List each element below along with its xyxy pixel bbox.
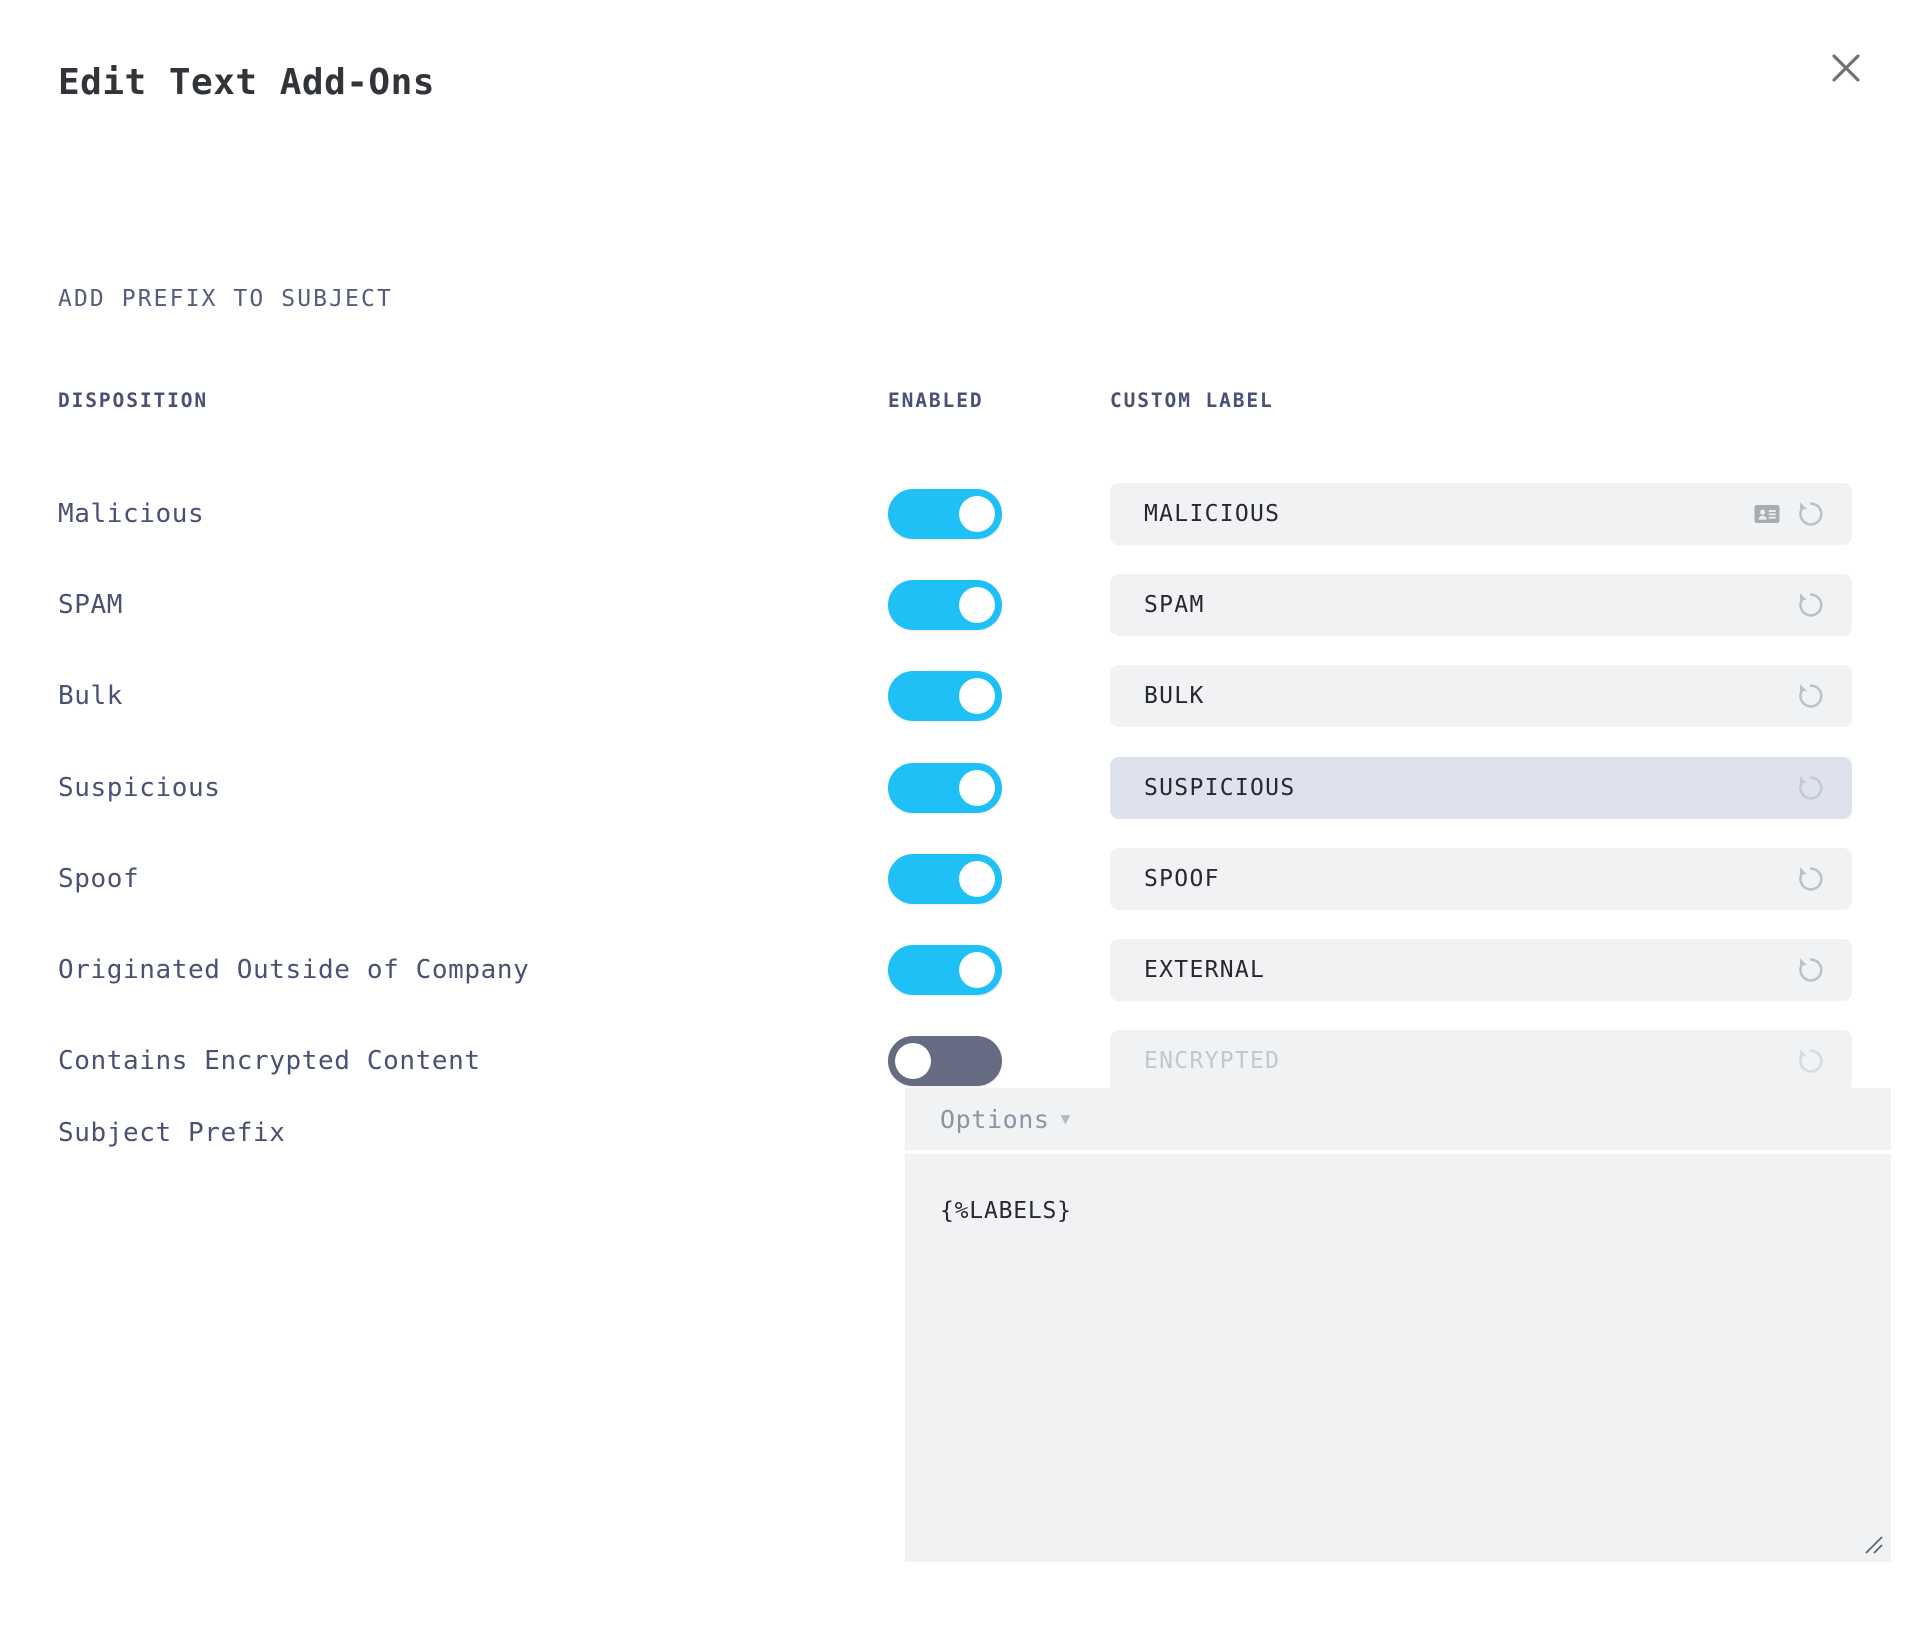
toggle-knob [959, 678, 995, 714]
field-icon-group [1752, 499, 1852, 529]
custom-label-value: SPOOF [1110, 866, 1796, 892]
custom-label-value: ENCRYPTED [1110, 1048, 1796, 1074]
custom-label-value: MALICIOUS [1110, 501, 1752, 527]
disposition-label: Spoof [58, 864, 139, 894]
custom-label-value: SUSPICIOUS [1110, 775, 1796, 801]
toggle-knob [959, 952, 995, 988]
enabled-toggle[interactable] [888, 489, 1002, 539]
toggle-knob [895, 1043, 931, 1079]
toggle-knob [959, 496, 995, 532]
close-button[interactable] [1820, 42, 1872, 94]
field-icon-group [1796, 955, 1852, 985]
table-row: SPAMSPAM [0, 574, 1908, 636]
disposition-label: SPAM [58, 590, 123, 620]
subject-prefix-value: {%LABELS} [940, 1198, 1072, 1224]
table-row: BulkBULK [0, 665, 1908, 727]
custom-label-input[interactable]: SPOOF [1110, 848, 1852, 910]
custom-label-input[interactable]: MALICIOUS [1110, 483, 1852, 545]
reset-icon[interactable] [1796, 864, 1826, 894]
table-row: SuspiciousSUSPICIOUS [0, 757, 1908, 819]
options-dropdown-label: Options [940, 1105, 1050, 1134]
options-dropdown-button[interactable]: Options ▼ [905, 1088, 1891, 1150]
disposition-label: Originated Outside of Company [58, 955, 529, 985]
resize-handle[interactable] [1863, 1534, 1885, 1556]
reset-icon[interactable] [1796, 955, 1826, 985]
custom-label-value: EXTERNAL [1110, 957, 1796, 983]
enabled-toggle[interactable] [888, 763, 1002, 813]
subject-prefix-label: Subject Prefix [58, 1118, 286, 1148]
field-icon-group [1796, 1046, 1852, 1076]
custom-label-input[interactable]: SPAM [1110, 574, 1852, 636]
custom-label-value: SPAM [1110, 592, 1796, 618]
section-label: ADD PREFIX TO SUBJECT [58, 286, 393, 312]
page-title: Edit Text Add-Ons [58, 62, 435, 103]
reset-icon [1796, 1046, 1826, 1076]
enabled-toggle[interactable] [888, 671, 1002, 721]
disposition-label: Bulk [58, 681, 123, 711]
custom-label-input[interactable]: EXTERNAL [1110, 939, 1852, 1001]
table-row: SpoofSPOOF [0, 848, 1908, 910]
field-icon-group [1796, 590, 1852, 620]
toggle-knob [959, 861, 995, 897]
custom-label-input[interactable]: BULK [1110, 665, 1852, 727]
disposition-label: Suspicious [58, 773, 221, 803]
column-header-custom-label: CUSTOM LABEL [1110, 389, 1274, 412]
contact-card-icon[interactable] [1752, 499, 1782, 529]
reset-icon[interactable] [1796, 590, 1826, 620]
column-header-disposition: DISPOSITION [58, 389, 208, 412]
reset-icon[interactable] [1796, 773, 1826, 803]
toggle-knob [959, 587, 995, 623]
field-icon-group [1796, 681, 1852, 711]
subject-prefix-textarea[interactable]: {%LABELS} [905, 1154, 1891, 1562]
column-header-enabled: ENABLED [888, 389, 983, 412]
disposition-label: Contains Encrypted Content [58, 1046, 481, 1076]
field-icon-group [1796, 864, 1852, 894]
custom-label-input[interactable]: SUSPICIOUS [1110, 757, 1852, 819]
table-row: Contains Encrypted ContentENCRYPTED [0, 1030, 1908, 1092]
edit-text-addons-dialog: Edit Text Add-Ons ADD PREFIX TO SUBJECT … [0, 0, 1908, 1650]
custom-label-input: ENCRYPTED [1110, 1030, 1852, 1092]
table-row: MaliciousMALICIOUS [0, 483, 1908, 545]
chevron-down-icon: ▼ [1061, 1111, 1071, 1127]
field-icon-group [1796, 773, 1852, 803]
enabled-toggle[interactable] [888, 580, 1002, 630]
enabled-toggle[interactable] [888, 854, 1002, 904]
close-icon [1829, 51, 1863, 85]
custom-label-value: BULK [1110, 683, 1796, 709]
reset-icon[interactable] [1796, 499, 1826, 529]
table-row: Originated Outside of CompanyEXTERNAL [0, 939, 1908, 1001]
toggle-knob [959, 770, 995, 806]
enabled-toggle[interactable] [888, 945, 1002, 995]
enabled-toggle[interactable] [888, 1036, 1002, 1086]
reset-icon[interactable] [1796, 681, 1826, 711]
disposition-label: Malicious [58, 499, 204, 529]
